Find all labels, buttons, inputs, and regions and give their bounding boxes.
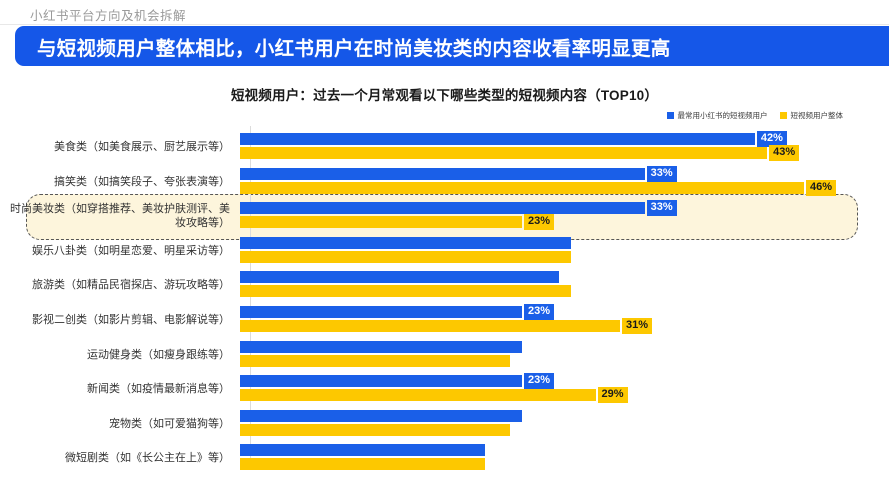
category-label: 时尚美妆类（如穿搭推荐、美妆护肤测评、美妆攻略等）: [0, 202, 240, 230]
bar-group: [240, 338, 889, 372]
chart-title: 短视频用户：过去一个月常观看以下哪些类型的短视频内容（TOP10）: [0, 84, 889, 104]
bar-series-xiaohongshu[interactable]: [240, 410, 522, 422]
bar-group: [240, 407, 889, 441]
category-label: 运动健身类（如瘦身跟练等）: [0, 348, 240, 362]
bar-series-xiaohongshu[interactable]: [240, 444, 485, 456]
bar-series-xiaohongshu[interactable]: [240, 375, 522, 387]
value-label-yellow: 31%: [622, 318, 652, 334]
bar-series-xiaohongshu[interactable]: [240, 341, 522, 353]
bar-series-xiaohongshu[interactable]: [240, 271, 559, 283]
bar-series-xiaohongshu[interactable]: [240, 202, 645, 214]
bar-series-xiaohongshu[interactable]: [240, 168, 645, 180]
value-label-yellow: 23%: [524, 214, 554, 230]
chart-row: 影视二创类（如影片剪辑、电影解说等）23%31%: [0, 303, 889, 337]
title-banner: 与短视频用户整体相比，小红书用户在时尚美妆类的内容收看率明显更高: [15, 26, 889, 66]
bar-series-overall[interactable]: [240, 424, 510, 436]
bar-group: [240, 441, 889, 475]
bar-series-xiaohongshu[interactable]: [240, 306, 522, 318]
value-label-blue: 23%: [524, 304, 554, 320]
chart-row: 时尚美妆类（如穿搭推荐、美妆护肤测评、美妆攻略等）33%23%: [0, 199, 889, 233]
banner-title: 与短视频用户整体相比，小红书用户在时尚美妆类的内容收看率明显更高: [37, 32, 671, 61]
bar-series-overall[interactable]: [240, 251, 571, 263]
chart-row: 宠物类（如可爱猫狗等）: [0, 407, 889, 441]
legend-item[interactable]: 最常用小红书的短视频用户: [667, 110, 768, 121]
category-label: 宠物类（如可爱猫狗等）: [0, 417, 240, 431]
chart-plot-area: 美食类（如美食展示、厨艺展示等）42%43%搞笑类（如搞笑段子、夸张表演等）33…: [0, 126, 889, 466]
bar-group: 33%46%: [240, 165, 889, 199]
bar-series-overall[interactable]: [240, 216, 522, 228]
page-kicker: 小红书平台方向及机会拆解: [30, 5, 186, 24]
bar-group: 23%31%: [240, 303, 889, 337]
chart-row: 新闻类（如疫情最新消息等）23%29%: [0, 372, 889, 406]
bar-series-overall[interactable]: [240, 458, 485, 470]
bar-series-overall[interactable]: [240, 182, 804, 194]
bar-group: 23%29%: [240, 372, 889, 406]
chart-row: 美食类（如美食展示、厨艺展示等）42%43%: [0, 130, 889, 164]
bar-group: [240, 268, 889, 302]
value-label-yellow: 29%: [598, 387, 628, 403]
value-label-blue: 33%: [647, 166, 677, 182]
category-label: 微短剧类（如《长公主在上》等）: [0, 451, 240, 465]
bar-series-xiaohongshu[interactable]: [240, 133, 755, 145]
bar-series-overall[interactable]: [240, 320, 620, 332]
legend-swatch-icon: [667, 112, 674, 119]
bar-group: [240, 234, 889, 268]
value-label-blue: 33%: [647, 200, 677, 216]
chart-row: 微短剧类（如《长公主在上》等）: [0, 441, 889, 475]
legend-swatch-icon: [780, 112, 787, 119]
category-label: 旅游类（如精品民宿探店、游玩攻略等）: [0, 278, 240, 292]
chart-row: 运动健身类（如瘦身跟练等）: [0, 338, 889, 372]
chart-row: 旅游类（如精品民宿探店、游玩攻略等）: [0, 268, 889, 302]
legend-label: 最常用小红书的短视频用户: [678, 110, 768, 121]
bar-series-xiaohongshu[interactable]: [240, 237, 571, 249]
chart-row: 娱乐八卦类（如明星恋爱、明星采访等）: [0, 234, 889, 268]
bar-series-overall[interactable]: [240, 285, 571, 297]
bar-series-overall[interactable]: [240, 147, 767, 159]
bar-group: 33%23%: [240, 199, 889, 233]
value-label-yellow: 43%: [769, 145, 799, 161]
bar-series-overall[interactable]: [240, 355, 510, 367]
category-label: 搞笑类（如搞笑段子、夸张表演等）: [0, 175, 240, 189]
bar-group: 42%43%: [240, 130, 889, 164]
header-divider: [0, 24, 889, 25]
category-label: 影视二创类（如影片剪辑、电影解说等）: [0, 313, 240, 327]
value-label-blue: 23%: [524, 373, 554, 389]
bar-series-overall[interactable]: [240, 389, 596, 401]
chart-legend: 最常用小红书的短视频用户短视频用户整体: [667, 110, 844, 121]
chart-row: 搞笑类（如搞笑段子、夸张表演等）33%46%: [0, 165, 889, 199]
legend-label: 短视频用户整体: [791, 110, 844, 121]
category-label: 美食类（如美食展示、厨艺展示等）: [0, 140, 240, 154]
category-label: 娱乐八卦类（如明星恋爱、明星采访等）: [0, 244, 240, 258]
category-label: 新闻类（如疫情最新消息等）: [0, 382, 240, 396]
value-label-yellow: 46%: [806, 180, 836, 196]
legend-item[interactable]: 短视频用户整体: [780, 110, 844, 121]
